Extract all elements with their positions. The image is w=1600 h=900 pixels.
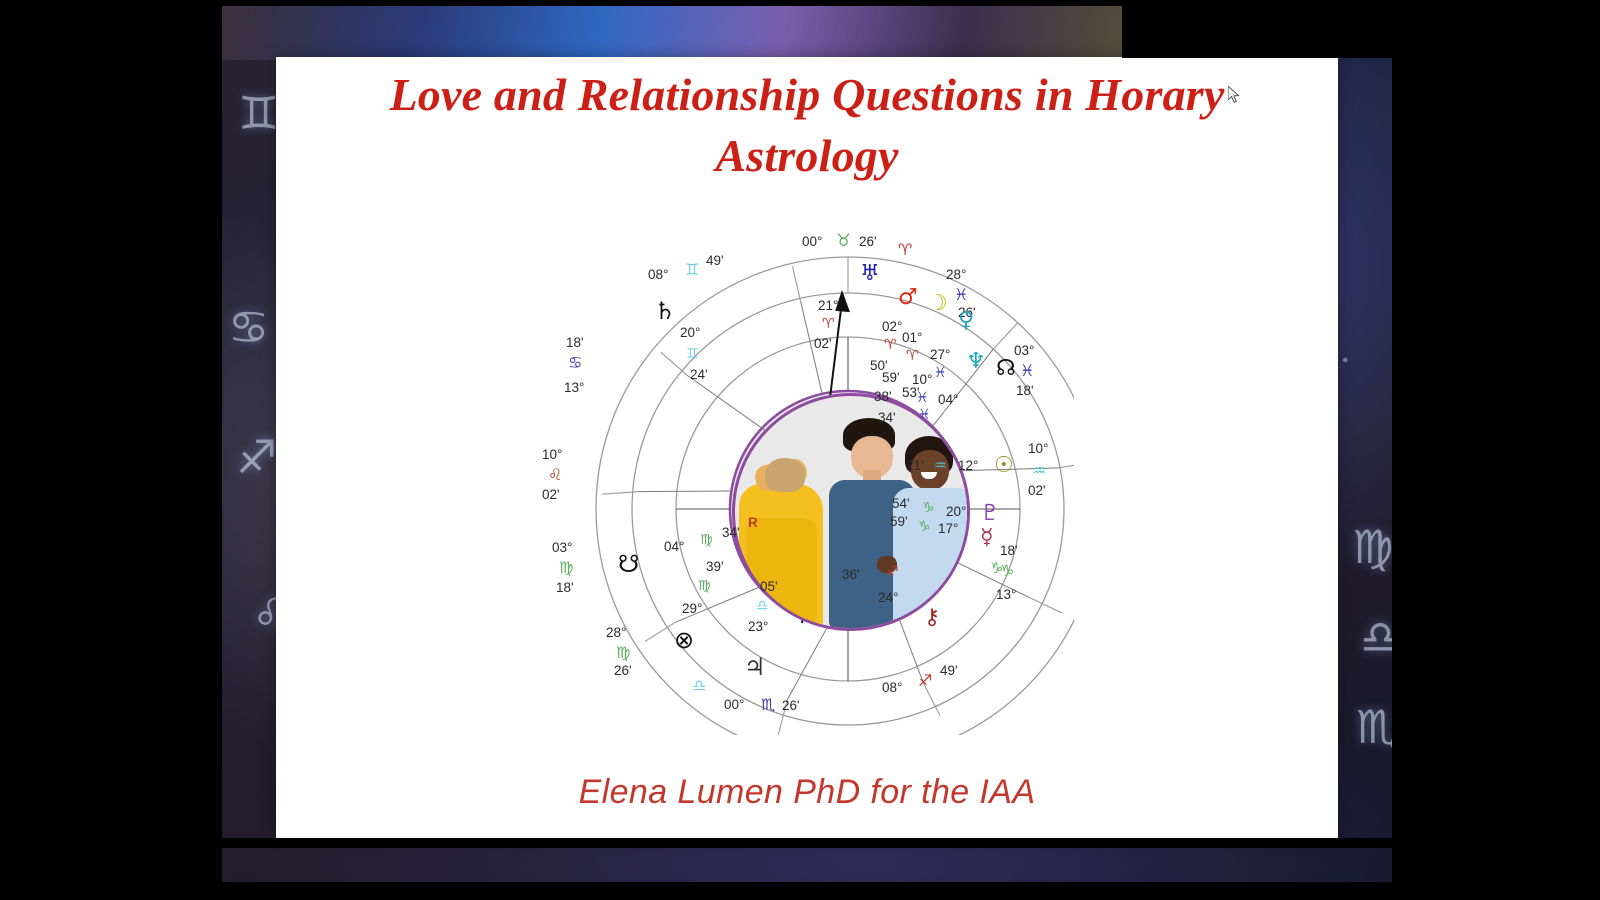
uranus-degree: 21° — [818, 298, 838, 313]
south-node-degree: 04° — [664, 539, 684, 554]
presenter-credit: Elena Lumen PhD for the IAA — [276, 773, 1338, 812]
aries-glyph-outer: ♈ — [898, 242, 912, 258]
uranus-glyph: ♅ — [860, 263, 880, 285]
screen-share-stage: ♊ ♋ ♐ ♌ ♍ ♎ ♏ Love and Relationship Ques… — [0, 0, 1600, 900]
mars-degree: 02° — [882, 319, 902, 334]
saturn-degree: 20° — [680, 325, 700, 340]
saturn-glyph: ♄ — [654, 299, 676, 323]
libra-glyph-outer: ♎ — [692, 678, 706, 694]
venus-sign-glyph: ♓ — [934, 366, 947, 380]
neptune-glyph: ♆ — [966, 351, 986, 373]
pluto-sign-glyph: ♑ — [922, 501, 935, 515]
saturn-sign-glyph: ♊ — [686, 347, 699, 361]
letterbox-mid-gap — [222, 838, 1392, 848]
mercury-sign-glyph: ♑ — [918, 520, 931, 534]
south-node-glyph: ☋ — [618, 552, 639, 576]
cusp-virgo28-degree: 28° — [606, 625, 626, 640]
cusp-capricorn-degree: 13° — [996, 587, 1016, 602]
moon-minute: 59' — [882, 370, 900, 385]
part-of-fortune-minute: 39' — [706, 559, 724, 574]
cusp-virgo3-degree: 03° — [552, 540, 572, 555]
letterbox-left — [0, 0, 222, 900]
jupiter-degree: 23° — [748, 619, 768, 634]
leo-glyph: ♌ — [548, 467, 562, 483]
virgo-glyph-a: ♍ — [559, 560, 573, 576]
pluto-minute: 54' — [892, 496, 910, 511]
pluto-degree: 20° — [946, 504, 966, 519]
sun-sign-glyph: ♒ — [934, 459, 947, 473]
moon-glyph: ☽ — [928, 293, 948, 315]
cusp-virgo3-minute: 18' — [556, 580, 574, 595]
mars-sign-glyph: ♈ — [884, 338, 897, 352]
neptune-sign-glyph: ♓ — [916, 391, 929, 405]
chiron-sign-glyph: ♐ — [886, 565, 899, 579]
cancer-glyph: ♋ — [568, 355, 582, 371]
virgo-glyph-b: ♍ — [616, 645, 630, 661]
part-of-fortune-glyph: ⊗ — [674, 628, 694, 652]
dsc-minute: 02' — [1028, 483, 1046, 498]
cusp-gemini-degree: 08° — [648, 267, 668, 282]
taurus-glyph: ♉ — [836, 233, 851, 250]
mercury-minute: 59' — [890, 514, 908, 529]
cusp-virgo28-minute: 26' — [614, 663, 632, 678]
mercury-glyph: ☿ — [980, 527, 994, 549]
letterbox-top-right — [1122, 0, 1392, 58]
cusp-cancer-minute: 18' — [566, 335, 584, 350]
neptune-degree: 10° — [912, 372, 932, 387]
pisces-glyph-b: ♓ — [954, 287, 968, 303]
cusp-sagittarius-degree: 08° — [882, 680, 902, 695]
asc-degree: 10° — [542, 447, 562, 462]
north-node-minute: 34' — [878, 410, 896, 425]
letterbox-right — [1392, 0, 1600, 900]
saturn-minute: 24' — [690, 367, 708, 382]
jupiter-sign-glyph: ♎ — [756, 599, 769, 613]
asc-minute: 02' — [542, 487, 560, 502]
moon-sign-glyph: ♈ — [906, 349, 919, 363]
ic-degree: 00° — [724, 697, 744, 712]
part-of-fortune-sign-glyph: ♍ — [698, 579, 711, 593]
south-node-retrograde: R — [748, 515, 758, 530]
mc-degree: 00° — [802, 234, 822, 249]
pluto-glyph: ♇ — [980, 503, 1000, 525]
aquarius-glyph-outer: ♒ — [1032, 463, 1046, 479]
part-of-fortune-degree: 29° — [682, 601, 702, 616]
ic-minute: 26' — [782, 698, 800, 713]
north-node-degree: 04° — [938, 392, 958, 407]
jupiter-minute: 05' — [760, 579, 778, 594]
gemini-glyph: ♊ — [685, 262, 699, 278]
sagittarius-glyph: ♐ — [918, 673, 932, 689]
capricorn-glyph-inner: ♑ — [990, 561, 1003, 576]
venus-glyph: ♀ — [958, 310, 974, 332]
neptune-minute: 38' — [874, 389, 892, 404]
mars-glyph: ♂ — [898, 287, 918, 309]
page-title: Love and Relationship Questions in Horar… — [306, 65, 1308, 186]
sun-glyph: ☉ — [994, 455, 1014, 477]
cusp-pisces3-degree: 03° — [1014, 343, 1034, 358]
chiron-glyph: ⚷ — [924, 607, 940, 629]
moon-degree: 01° — [902, 330, 922, 345]
cusp-pisces3-minute: 18' — [1016, 383, 1034, 398]
north-node-glyph: ☊ — [996, 358, 1016, 380]
cusp-pisces28-degree: 28° — [946, 267, 966, 282]
sun-degree: 12° — [958, 458, 978, 473]
cusp-cancer-degree: 13° — [564, 380, 584, 395]
pisces-glyph-a: ♓ — [1020, 363, 1034, 379]
north-node-sign-glyph: ♓ — [918, 408, 931, 422]
cusp-sagittarius-minute: 49' — [940, 663, 958, 678]
mercury-degree: 17° — [938, 521, 958, 536]
uranus-minute: 02' — [814, 336, 832, 351]
astrology-chart-wheel: 00° ♉ 26' 08° ♊ 49' 13° ♋ 18' 10° ♌ 02' … — [534, 215, 1074, 735]
venus-degree: 27° — [930, 347, 950, 362]
south-node-sign-glyph: ♍ — [700, 533, 713, 547]
letterbox-bottom — [0, 882, 1600, 900]
jupiter-glyph: ♃ — [744, 655, 766, 679]
photo-person-left — [739, 458, 823, 628]
chiron-degree: 24° — [878, 590, 898, 605]
dsc-degree: 10° — [1028, 441, 1048, 456]
background-top-nebula-strip — [222, 0, 1122, 60]
presentation-slide: Love and Relationship Questions in Horar… — [276, 57, 1338, 838]
south-node-minute: 34' — [722, 525, 740, 540]
cusp-gemini-minute: 49' — [706, 253, 724, 268]
sun-minute: 21' — [906, 458, 924, 473]
uranus-sign-glyph: ♈ — [822, 317, 835, 331]
cusp-capricorn-minute: 18' — [1000, 543, 1018, 558]
scorpio-glyph: ♏ — [761, 697, 775, 713]
mc-minute: 26' — [859, 234, 877, 249]
chiron-minute: 36' — [842, 567, 860, 582]
